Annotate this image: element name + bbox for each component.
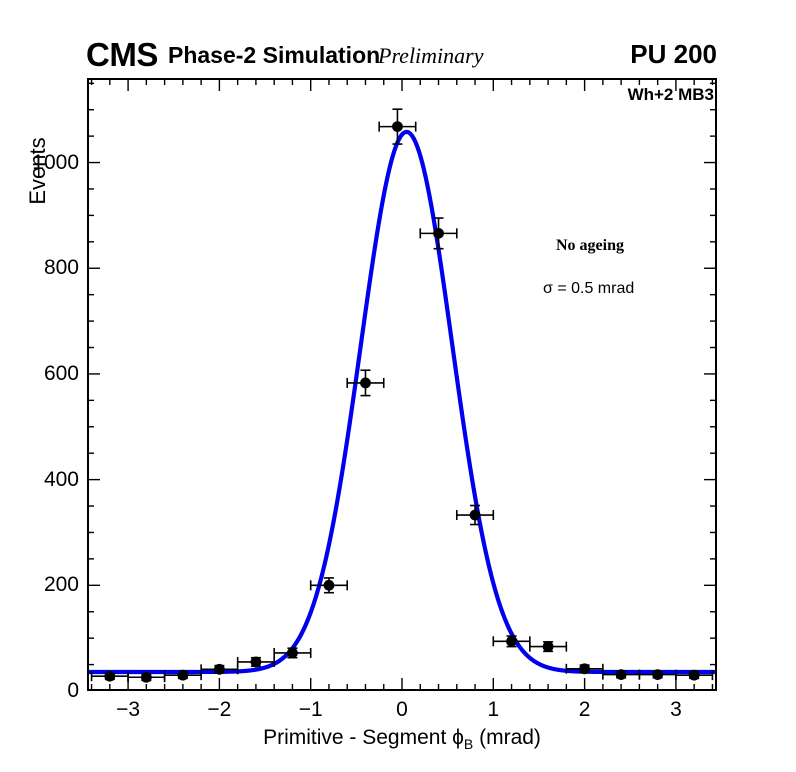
- pileup-label: PU 200: [630, 41, 717, 67]
- plot-frame-border: [87, 78, 717, 691]
- plot-header: CMS Phase-2 Simulation Preliminary PU 20…: [0, 0, 796, 78]
- region-label: Wh+2 MB3: [628, 86, 714, 103]
- x-tick-label: 2: [560, 699, 610, 720]
- y-tick-label: 800: [15, 257, 79, 278]
- preliminary-label: Preliminary: [378, 45, 484, 67]
- phi-symbol: ϕ: [452, 726, 464, 749]
- x-tick-label: −3: [103, 699, 153, 720]
- x-tick-label: 3: [651, 699, 701, 720]
- x-tick-label: −2: [194, 699, 244, 720]
- y-tick-label: 200: [15, 574, 79, 595]
- x-axis-title-prefix: Primitive - Segment: [263, 726, 452, 749]
- x-axis-title: Primitive - Segment ϕB (mrad): [87, 727, 717, 755]
- y-tick-label: 400: [15, 469, 79, 490]
- ageing-annotation: No ageing: [556, 238, 624, 254]
- y-tick-label: 1000: [15, 152, 79, 173]
- y-tick-label: 0: [15, 680, 79, 701]
- x-tick-label: 0: [377, 699, 427, 720]
- x-axis-title-suffix: (mrad): [473, 726, 541, 749]
- y-tick-label: 600: [15, 363, 79, 384]
- sigma-annotation: σ = 0.5 mrad: [543, 281, 634, 297]
- x-tick-label: −1: [286, 699, 336, 720]
- phi-subscript: B: [464, 736, 473, 752]
- cms-logo-text: CMS: [86, 38, 158, 71]
- plot-canvas: CMS Phase-2 Simulation Preliminary PU 20…: [0, 0, 796, 772]
- phase-simulation-label: Phase-2 Simulation: [168, 44, 380, 67]
- x-tick-label: 1: [468, 699, 518, 720]
